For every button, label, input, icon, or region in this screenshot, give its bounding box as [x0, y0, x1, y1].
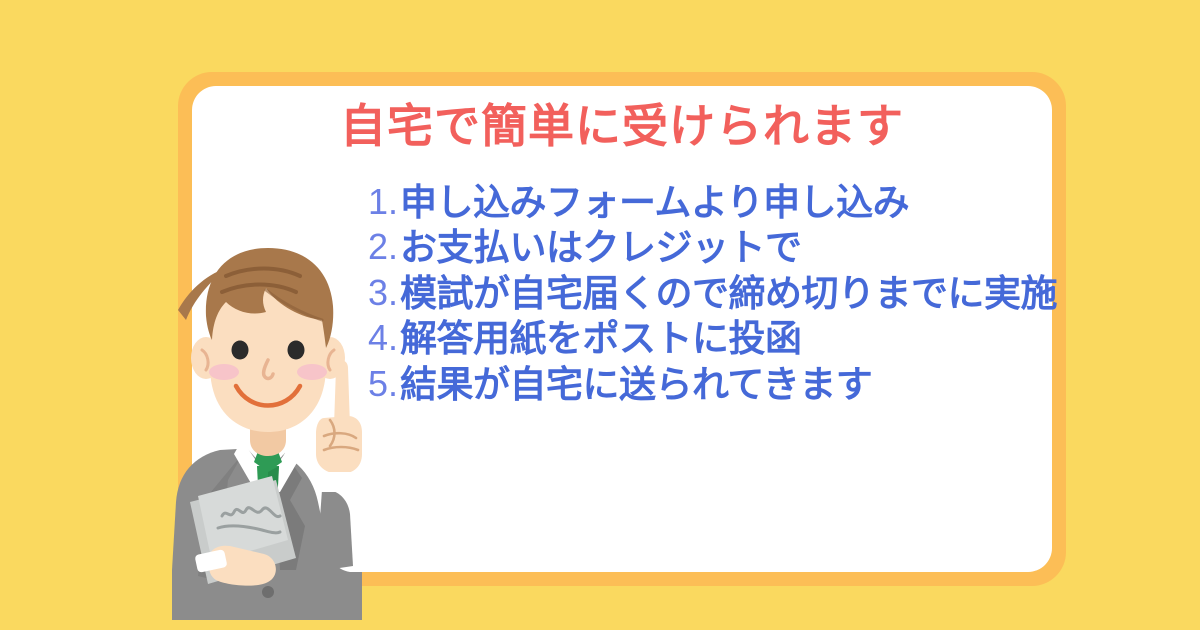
step-label: 解答用紙をポストに投函: [400, 318, 802, 359]
step-number: 3.: [368, 273, 400, 313]
list-item: 1. 申し込みフォームより申し込み: [368, 182, 1058, 223]
step-label: 模試が自宅届くので締め切りまでに実施: [400, 273, 1057, 314]
steps-list: 1. 申し込みフォームより申し込み 2. お支払いはクレジットで 3. 模試が自…: [368, 182, 1058, 409]
list-item: 2. お支払いはクレジットで: [368, 227, 1058, 268]
list-item: 5. 結果が自宅に送られてきます: [368, 364, 1058, 405]
poster-canvas: 自宅で簡単に受けられます 1. 申し込みフォームより申し込み 2. お支払いはク…: [0, 0, 1200, 630]
step-number: 5.: [368, 364, 400, 404]
step-number: 4.: [368, 318, 400, 358]
step-number: 1.: [368, 182, 400, 222]
step-label: お支払いはクレジットで: [400, 227, 802, 268]
page-title: 自宅で簡単に受けられます: [192, 100, 1052, 153]
step-label: 結果が自宅に送られてきます: [400, 364, 872, 405]
list-item: 3. 模試が自宅届くので締め切りまでに実施: [368, 273, 1058, 314]
list-item: 4. 解答用紙をポストに投函: [368, 318, 1058, 359]
step-label: 申し込みフォームより申し込み: [400, 182, 909, 223]
step-number: 2.: [368, 227, 400, 267]
